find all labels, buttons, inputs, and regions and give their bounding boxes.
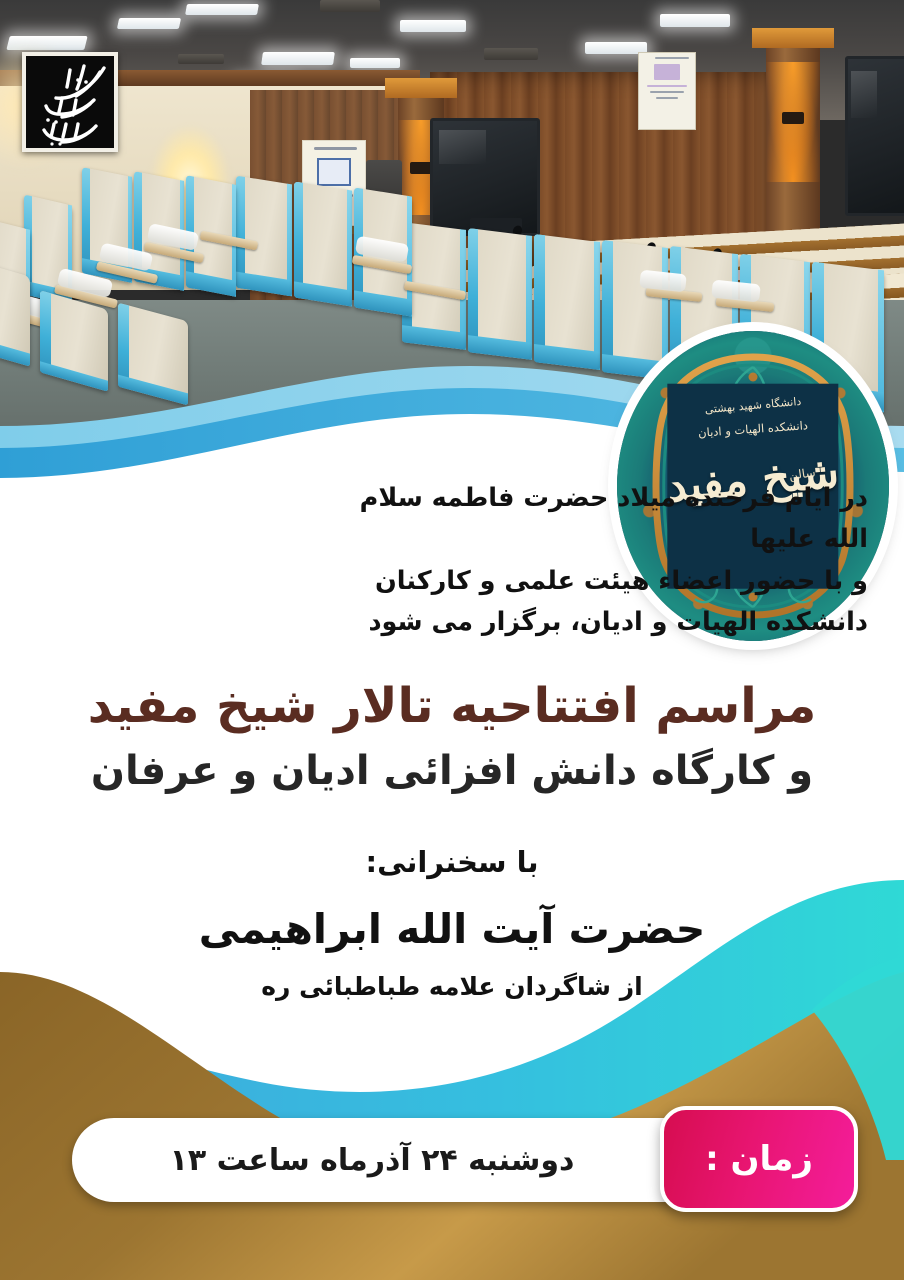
pillar-cap bbox=[752, 28, 834, 48]
university-logo bbox=[22, 52, 118, 152]
wall-poster bbox=[638, 52, 696, 130]
poster-line bbox=[656, 97, 677, 99]
sign-box bbox=[317, 158, 351, 186]
intro-line-1: در ایام فرخنده میلاد حضرت فاطمه سلام الل… bbox=[308, 478, 868, 561]
ceiling-light bbox=[185, 4, 259, 15]
ceiling-light bbox=[350, 58, 400, 68]
bottom-wave-decoration bbox=[0, 860, 904, 1280]
main-title-line-1: مراسم افتتاحیه تالار شیخ مفید bbox=[0, 678, 904, 734]
time-badge: زمان : bbox=[660, 1106, 858, 1212]
event-datetime: دوشنبه ۲۴ آذرماه ساعت ۱۳ bbox=[112, 1118, 632, 1202]
pillar-cap bbox=[385, 78, 457, 98]
sign-line bbox=[314, 147, 357, 150]
auditorium-seat bbox=[294, 181, 352, 306]
screen-glare bbox=[851, 71, 876, 117]
logo-inner bbox=[26, 56, 114, 148]
ceiling-vent bbox=[484, 48, 538, 60]
seat-band bbox=[186, 271, 236, 296]
wave-svg bbox=[0, 860, 904, 1280]
main-title-line-2: و کارگاه دانش افزائی ادیان و عرفان bbox=[0, 748, 904, 794]
poster-line bbox=[655, 57, 689, 59]
poster-line bbox=[647, 85, 686, 87]
logo-calligraphy-icon bbox=[26, 56, 114, 148]
event-poster: دانشگاه شهید بهشتی دانشکده الهیات و ادیا… bbox=[0, 0, 904, 1280]
ceiling-vent bbox=[178, 54, 224, 64]
intro-line-3: دانشکده الهیات و ادیان، برگزار می شود bbox=[308, 602, 868, 643]
tv-screen bbox=[845, 56, 904, 216]
auditorium-seat bbox=[236, 176, 292, 297]
intro-paragraph: در ایام فرخنده میلاد حضرت فاطمه سلام الل… bbox=[308, 478, 868, 643]
ceiling-vent bbox=[320, 0, 380, 12]
sconce-body bbox=[410, 162, 432, 174]
ceiling-light bbox=[400, 20, 466, 32]
sconce-body bbox=[782, 112, 804, 124]
intro-line-2: و با حضور اعضاء هیئت علمی و کارکنان bbox=[308, 561, 868, 602]
ceiling-light bbox=[117, 18, 181, 29]
screen-glare bbox=[439, 130, 486, 164]
poster-line bbox=[654, 64, 680, 80]
ceiling-light bbox=[660, 14, 730, 27]
ceiling-light bbox=[261, 52, 335, 65]
poster-line bbox=[650, 91, 685, 93]
